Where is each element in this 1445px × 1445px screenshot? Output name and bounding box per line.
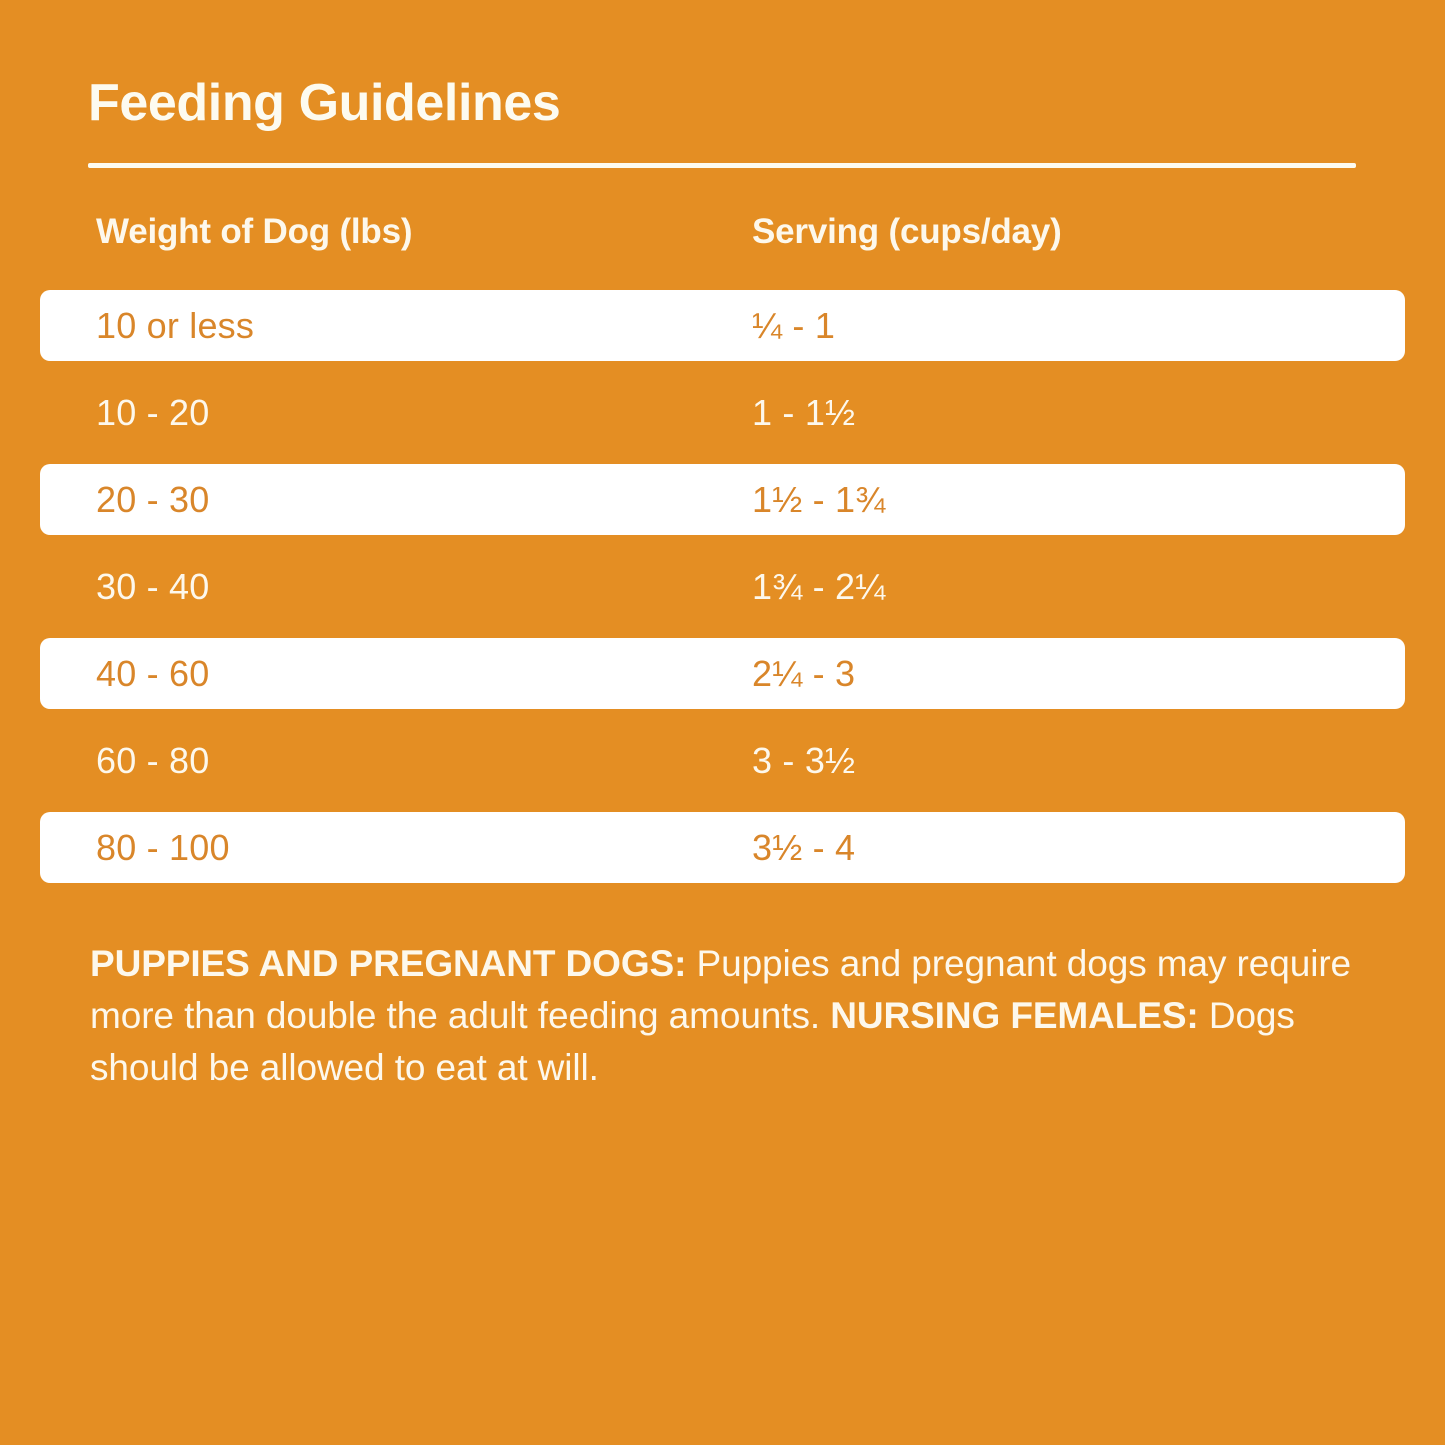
footnote-puppies-label: PUPPIES AND PREGNANT DOGS: xyxy=(90,943,686,984)
cell-weight: 10 or less xyxy=(96,305,254,347)
column-header-weight: Weight of Dog (lbs) xyxy=(96,212,412,252)
cell-weight: 60 - 80 xyxy=(96,740,209,782)
cell-serving: 2¼ - 3 xyxy=(752,653,855,695)
cell-serving: 1 - 1½ xyxy=(752,392,855,434)
cell-serving: 3 - 3½ xyxy=(752,740,855,782)
table-row: 10 - 201 - 1½ xyxy=(40,377,1405,448)
title-divider xyxy=(88,163,1356,168)
cell-weight: 10 - 20 xyxy=(96,392,209,434)
page-title: Feeding Guidelines xyxy=(88,76,560,131)
table-row: 40 - 602¼ - 3 xyxy=(40,638,1405,709)
cell-serving: 1½ - 1¾ xyxy=(752,479,885,521)
table-row: 80 - 1003½ - 4 xyxy=(40,812,1405,883)
table-row: 10 or less¼ - 1 xyxy=(40,290,1405,361)
table-row: 30 - 401¾ - 2¼ xyxy=(40,551,1405,622)
feeding-table: 10 or less¼ - 110 - 201 - 1½20 - 301½ - … xyxy=(0,290,1445,899)
cell-weight: 30 - 40 xyxy=(96,566,209,608)
cell-weight: 80 - 100 xyxy=(96,827,230,869)
table-row: 60 - 803 - 3½ xyxy=(40,725,1405,796)
cell-weight: 20 - 30 xyxy=(96,479,209,521)
cell-serving: ¼ - 1 xyxy=(752,305,835,347)
table-column-headers: Weight of Dog (lbs) Serving (cups/day) xyxy=(0,212,1445,268)
footnote: PUPPIES AND PREGNANT DOGS: Puppies and p… xyxy=(90,938,1375,1094)
feeding-guidelines-panel: Feeding Guidelines Weight of Dog (lbs) S… xyxy=(0,0,1445,1445)
table-row: 20 - 301½ - 1¾ xyxy=(40,464,1405,535)
column-header-serving: Serving (cups/day) xyxy=(752,212,1062,252)
cell-serving: 1¾ - 2¼ xyxy=(752,566,885,608)
cell-weight: 40 - 60 xyxy=(96,653,209,695)
cell-serving: 3½ - 4 xyxy=(752,827,855,869)
footnote-nursing-label: NURSING FEMALES: xyxy=(830,995,1198,1036)
